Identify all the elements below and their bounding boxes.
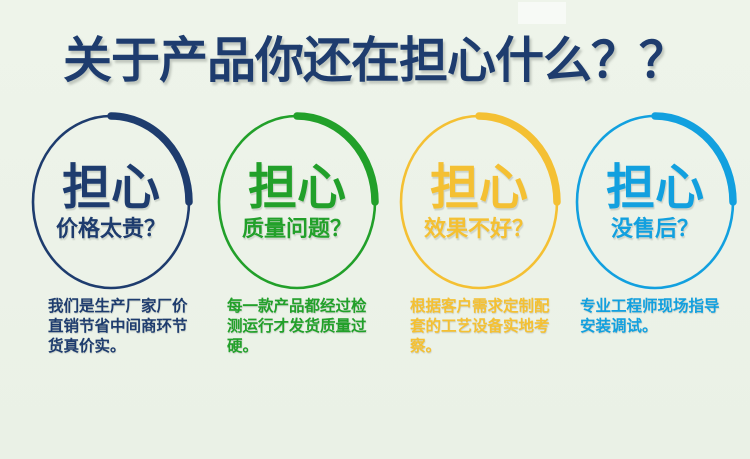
worry-card-effect: 担心 效果不好？ <box>386 112 572 292</box>
description-price: 我们是生产厂家厂价直销节省中间商环节货真价实。 <box>48 296 200 356</box>
worry-sub-label: 质量问题？ <box>242 217 352 243</box>
description-effect: 根据客户需求定制配套的工艺设备实地考察。 <box>410 296 562 356</box>
description-quality: 每一款产品都经过检测运行才发货质量过硬。 <box>227 296 379 356</box>
ring-text-block: 担心 没售后？ <box>562 112 748 292</box>
worry-sub-label: 效果不好？ <box>424 217 534 243</box>
page-title: 关于产品你还在担心什么？？ <box>0 32 750 90</box>
worry-card-price: 担心 价格太贵？ <box>18 112 204 292</box>
worry-big-label: 担心 <box>248 162 346 214</box>
worry-card-row: 担心 价格太贵？ 担心 质量问题？ <box>0 112 750 292</box>
worry-big-label: 担心 <box>62 162 160 214</box>
description-row: 我们是生产厂家厂价直销节省中间商环节货真价实。 每一款产品都经过检测运行才发货质… <box>0 296 750 406</box>
worry-card-quality: 担心 质量问题？ <box>204 112 390 292</box>
ring-text-block: 担心 效果不好？ <box>386 112 572 292</box>
ring-text-block: 担心 价格太贵？ <box>18 112 204 292</box>
top-highlight-strip <box>518 2 566 24</box>
worry-sub-label: 价格太贵？ <box>56 217 166 243</box>
ring-text-block: 担心 质量问题？ <box>204 112 390 292</box>
worry-card-after-sales: 担心 没售后？ <box>562 112 748 292</box>
worry-big-label: 担心 <box>430 162 528 214</box>
worry-big-label: 担心 <box>606 162 704 214</box>
description-after-sales: 专业工程师现场指导安装调试。 <box>580 296 732 336</box>
worry-sub-label: 没售后？ <box>611 217 699 243</box>
promo-banner: 关于产品你还在担心什么？？ 担心 价格太贵？ <box>0 0 750 459</box>
